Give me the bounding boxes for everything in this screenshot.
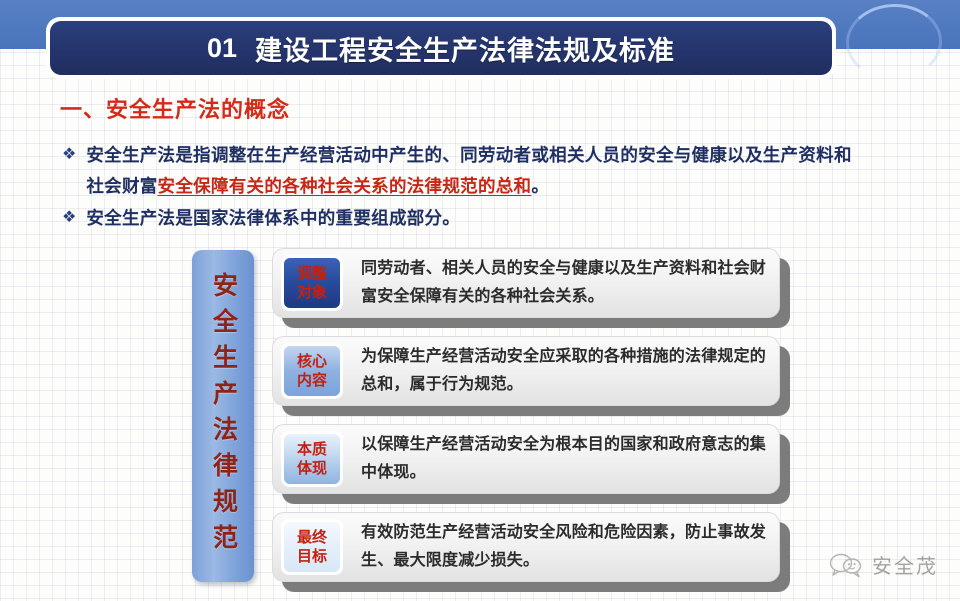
row-badge-line-1: 本质 [297,440,327,459]
row-card: 核心 内容 为保障生产经营活动安全应采取的各种措施的法律规定的总和，属于行为规范… [272,336,780,406]
bullet-text: 安全生产法是国家法律体系中的重要组成部分。 [86,203,460,234]
slide-title-inner: 01 建设工程安全生产法律法规及标准 [50,21,832,75]
slide-title-number: 01 [207,33,237,64]
diagram-row: 核心 内容 为保障生产经营活动安全应采取的各种措施的法律规定的总和，属于行为规范… [272,336,802,408]
section-heading: 一、安全生产法的概念 [60,92,290,124]
row-card: 调整 对象 同劳动者、相关人员的安全与健康以及生产资料和社会财富安全保障有关的各… [272,248,780,318]
diagram-rows: 调整 对象 同劳动者、相关人员的安全与健康以及生产资料和社会财富安全保障有关的各… [272,248,802,600]
bullet-text: 安全生产法是指调整在生产经营活动中产生的、同劳动者或相关人员的安全与健康以及生产… [86,140,862,202]
decorative-arc-icon [845,2,944,81]
row-badge: 本质 体现 [284,434,340,484]
row-description: 以保障生产经营活动安全为根本目的国家和政府意志的集中体现。 [361,431,779,487]
slide-title-plate: 01 建设工程安全生产法律法规及标准 [46,17,836,79]
diagram-row: 本质 体现 以保障生产经营活动安全为根本目的国家和政府意志的集中体现。 [272,424,802,496]
row-badge-line-2: 目标 [297,547,327,566]
bullet-item: ❖ 安全生产法是国家法律体系中的重要组成部分。 [62,203,862,234]
row-badge-frame: 最终 目标 [281,519,343,575]
bullet-text-part-2: 。 [531,176,549,196]
row-badge-frame: 核心 内容 [281,343,343,399]
row-badge-frame: 调整 对象 [281,255,343,311]
row-badge: 核心 内容 [284,346,340,396]
wechat-bubbles-icon [829,552,863,578]
row-card: 最终 目标 有效防范生产经营活动安全风险和危险因素，防止事故发生、最大限度减少损… [272,512,780,582]
row-badge-line-1: 核心 [297,352,327,371]
diagram-vertical-label: 安全生产法律规范 [192,250,254,582]
row-description: 为保障生产经营活动安全应采取的各种措施的法律规定的总和，属于行为规范。 [361,343,779,399]
row-badge-line-2: 对象 [297,283,327,302]
watermark-text: 安全茂 [872,550,938,579]
bullet-item: ❖ 安全生产法是指调整在生产经营活动中产生的、同劳动者或相关人员的安全与健康以及… [62,140,862,202]
row-card: 本质 体现 以保障生产经营活动安全为根本目的国家和政府意志的集中体现。 [272,424,780,494]
row-badge: 最终 目标 [284,522,340,572]
page-title: 建设工程安全生产法律法规及标准 [255,29,675,68]
watermark: 安全茂 [829,550,938,579]
row-description: 有效防范生产经营活动安全风险和危险因素，防止事故发生、最大限度减少损失。 [361,519,779,575]
row-badge-line-2: 体现 [297,459,327,478]
bullet-text-highlight: 安全保障有关的各种社会关系的法律规范的总和 [158,176,532,196]
bullet-marker-icon: ❖ [62,140,76,170]
bullet-text-part-1: 安全生产法是国家法律体系中的重要组成部分。 [86,208,460,228]
diagram-row: 调整 对象 同劳动者、相关人员的安全与健康以及生产资料和社会财富安全保障有关的各… [272,248,802,320]
diagram-vertical-label-text: 安全生产法律规范 [211,272,236,560]
bullet-marker-icon: ❖ [62,203,76,233]
row-badge: 调整 对象 [284,258,340,308]
row-badge-line-1: 最终 [297,528,327,547]
diagram-row: 最终 目标 有效防范生产经营活动安全风险和危险因素，防止事故发生、最大限度减少损… [272,512,802,584]
row-badge-frame: 本质 体现 [281,431,343,487]
row-badge-line-1: 调整 [297,264,327,283]
row-description: 同劳动者、相关人员的安全与健康以及生产资料和社会财富安全保障有关的各种社会关系。 [361,255,779,311]
slide-canvas: 01 建设工程安全生产法律法规及标准 一、安全生产法的概念 ❖ 安全生产法是指调… [0,0,960,601]
row-badge-line-2: 内容 [297,371,327,390]
